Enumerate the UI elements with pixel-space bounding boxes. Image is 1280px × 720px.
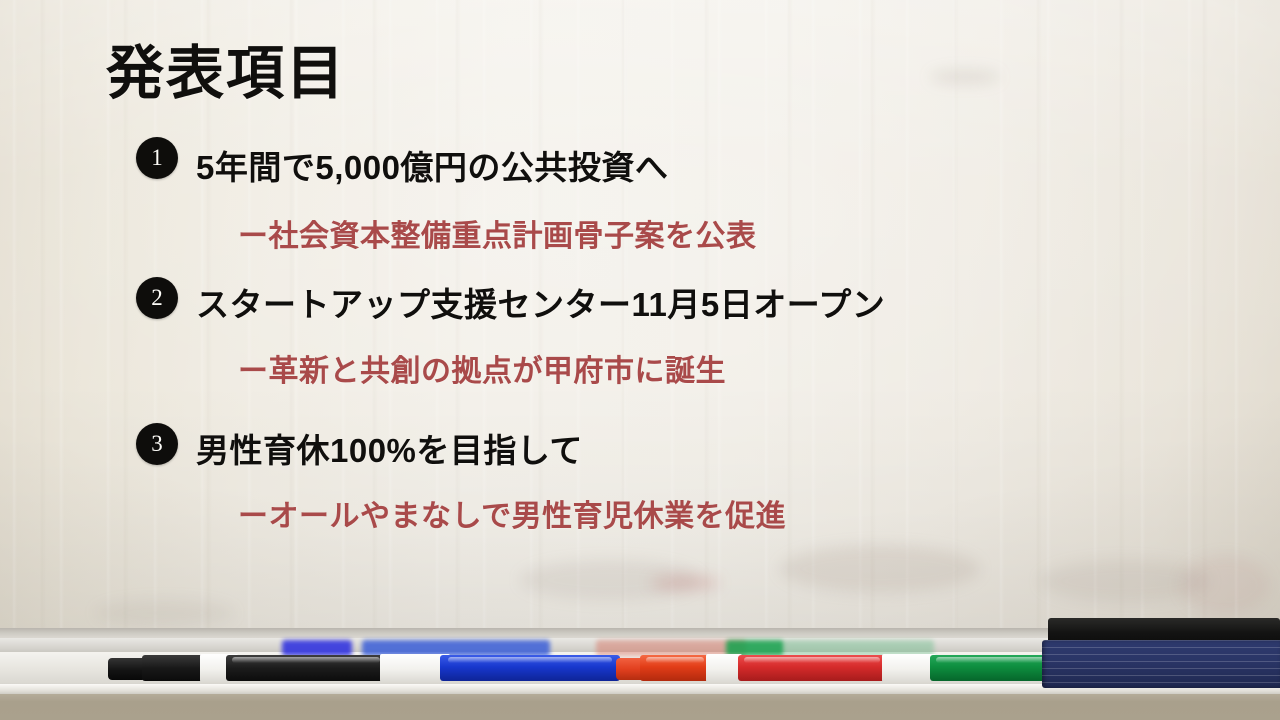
black-marker-barrel[interactable] (226, 655, 386, 681)
item-heading-1: 5年間で5,000億円の公共投資へ (196, 141, 668, 189)
item-heading-2: スタートアップ支援センター11月5日オープン (196, 278, 885, 326)
whiteboard-eraser[interactable] (1042, 640, 1280, 688)
orange-marker-body[interactable] (640, 655, 710, 681)
item-number-badge-2: 2 (136, 277, 178, 319)
item-heading-3: 男性育休100%を目指して (196, 424, 583, 472)
item-subheading-2: ー革新と共創の拠点が甲府市に誕生 (238, 346, 726, 390)
page-title: 発表項目 (106, 44, 346, 105)
item-subheading-1: ー社会資本整備重点計画骨子案を公表 (238, 211, 757, 255)
black-marker-cap[interactable] (108, 658, 144, 680)
item-number-badge-3: 3 (136, 423, 178, 465)
black-marker-cap-body[interactable] (142, 655, 204, 681)
whiteboard-slide: 発表項目 1 5年間で5,000億円の公共投資へ ー社会資本整備重点計画骨子案を… (0, 0, 1280, 720)
wall-below-board (0, 694, 1280, 720)
green-marker-collar[interactable] (882, 654, 936, 682)
red-marker-collar[interactable] (706, 654, 742, 682)
blue-marker-cap-ghost (282, 640, 352, 656)
item-number-badge-1: 1 (136, 137, 178, 179)
item-subheading-3: ーオールやまなしで男性育児休業を促進 (238, 491, 786, 535)
whiteboard-eraser-felt (1048, 618, 1280, 642)
red-marker-barrel[interactable] (738, 655, 886, 681)
blue-marker-barrel[interactable] (440, 655, 620, 681)
